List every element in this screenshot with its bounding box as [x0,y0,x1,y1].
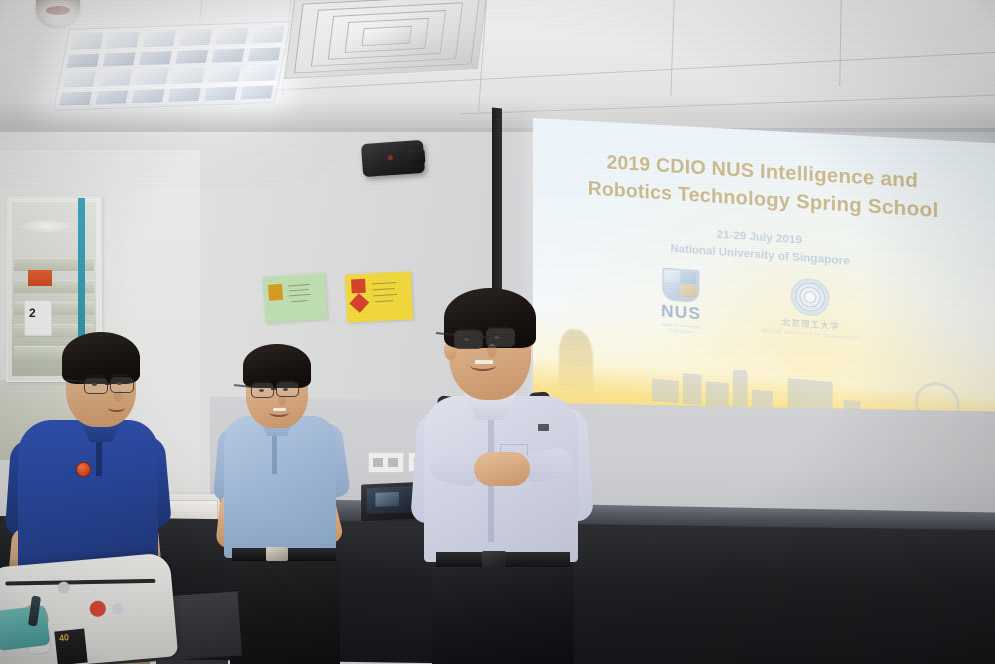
laptop-screen [367,486,416,514]
nus-crest-icon [662,268,699,303]
person-front-clasped-hands [474,452,530,486]
wall-notice-yellow [345,271,413,322]
interior-ceiling-light-icon [22,220,70,232]
ceiling-projector [361,140,425,177]
projection-screen: 2019 CDIO NUS Intelligence and Robotics … [533,118,995,450]
partner-emblem-icon [791,277,829,317]
person-middle-shirt [224,416,336,558]
projector-indicator-icon [388,155,393,160]
luggage-tag: 40 [54,629,87,664]
luggage-tag-number: 40 [59,633,70,643]
nus-wordmark: NUS [661,302,701,323]
partner-university-logo: 北京理工大学 BEIJING INSTITUTE OF TECHNOLOGY [762,275,860,341]
person-middle-belt-buckle [266,547,288,561]
person-front-strap-buckle [538,424,549,431]
interior-orange-box [28,270,52,286]
hvac-diffuser [284,0,487,79]
teal-case [0,605,50,651]
projector-lens-icon [407,149,425,165]
wall-notice-green [262,273,327,323]
merlion-silhouette-icon [559,328,593,393]
conference-room-photo: 2019 CDIO NUS Intelligence and Robotics … [0,0,995,664]
person-front-trousers [432,562,574,664]
person-front-belt-buckle [482,551,506,567]
person-left-badge-pin [76,462,91,477]
person-middle-trousers [230,558,340,664]
fluorescent-light-panel [53,21,291,111]
interior-sign: 2 [24,300,52,336]
power-outlets[interactable] [368,452,404,473]
